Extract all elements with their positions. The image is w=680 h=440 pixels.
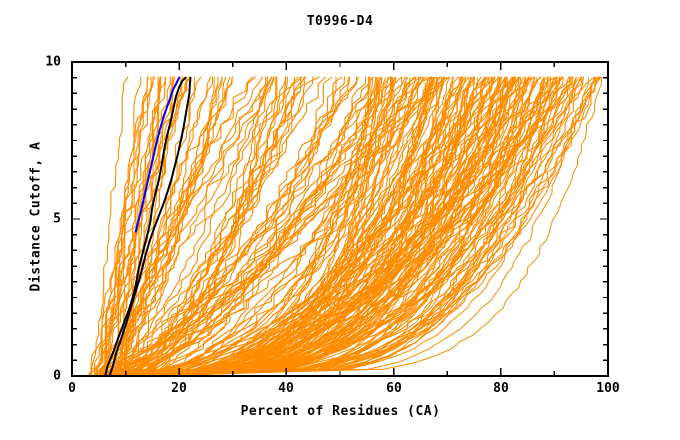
prediction-curves-group [88, 77, 601, 376]
plot-canvas [0, 0, 680, 440]
distance-cutoff-plot: T0996-D4 Percent of Residues (CA) Distan… [0, 0, 680, 440]
x-tick-label-20: 20 [171, 381, 187, 396]
y-tick-label-0: 0 [53, 369, 61, 384]
x-tick-label-40: 40 [278, 381, 294, 396]
y-tick-label-10: 10 [45, 55, 61, 70]
y-axis-label: Distance Cutoff, A [29, 107, 44, 327]
x-tick-label-80: 80 [493, 381, 509, 396]
x-tick-label-100: 100 [596, 381, 619, 396]
y-tick-label-5: 5 [53, 212, 61, 227]
x-tick-label-0: 0 [68, 381, 76, 396]
x-tick-label-60: 60 [386, 381, 402, 396]
x-axis-label: Percent of Residues (CA) [72, 404, 609, 419]
